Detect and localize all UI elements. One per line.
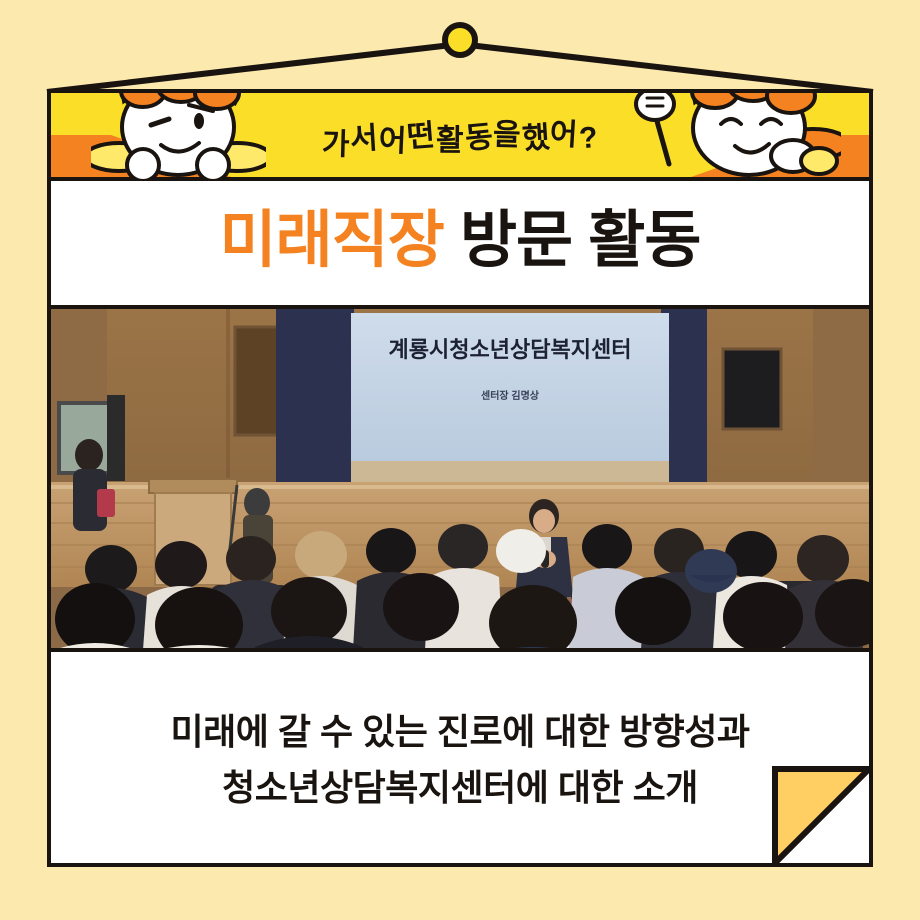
page-title: 미래직장 방문 활동: [220, 210, 701, 276]
poster-card: 가서 어떤 활동을 했어? 미래직장 방문 활동: [47, 89, 873, 867]
hanger-string-right: [460, 44, 873, 92]
photo-podium-top: [149, 479, 237, 493]
poster-canvas: 가서 어떤 활동을 했어? 미래직장 방문 활동: [0, 0, 920, 920]
banner-char: 어: [378, 115, 409, 160]
title-main-text: 방문 활동: [460, 206, 700, 275]
photo-curtain-left: [276, 309, 354, 482]
caption-line-2: 청소년상담복지센터에 대한 소개: [222, 760, 698, 816]
hanger-knob-icon: [445, 25, 475, 55]
photo-projection-screen: [351, 313, 669, 461]
photo-screen-subtitle: 센터장 김명상: [481, 389, 540, 402]
hanger-string-left: [47, 44, 460, 92]
banner-char: 가: [321, 119, 351, 164]
banner-char: ?: [578, 121, 600, 156]
photo-navy-cap-icon: [685, 549, 737, 593]
photo-wall-seam-1: [226, 309, 230, 482]
hanger-decoration: [0, 0, 920, 100]
photo-red-folder: [97, 489, 115, 517]
banner-char: 떤: [406, 110, 438, 156]
banner-char: 서: [349, 113, 380, 159]
banner-char: 동: [463, 111, 496, 158]
banner-char: 을: [493, 109, 523, 154]
banner-char: 어: [549, 108, 580, 154]
photo-window-right: [723, 349, 781, 429]
banner: 가서 어떤 활동을 했어?: [51, 93, 869, 181]
caption-block: 미래에 갈 수 있는 진로에 대한 방향성과 청소년상담복지센터에 대한 소개: [51, 652, 869, 867]
title-main-text: [444, 206, 460, 275]
photo-monitor-stand: [107, 395, 125, 481]
photo-illustration: 계룡시청소년상담복지센터 센터장 김명상: [51, 309, 869, 648]
title-strip: 미래직장 방문 활동: [51, 181, 869, 309]
photo-screen-title: 계룡시청소년상담복지센터: [389, 337, 632, 362]
title-accent-text: 미래직장: [220, 206, 444, 275]
banner-char: 했: [521, 112, 552, 158]
photo-bystander-head: [244, 488, 270, 518]
banner-char: 활: [436, 115, 465, 159]
caption-line-1: 미래에 갈 수 있는 진로에 대한 방향성과: [171, 704, 750, 760]
photo-white-cap-icon: [496, 529, 546, 573]
photo-speaker-face: [533, 509, 555, 533]
lecture-hall-photo: 계룡시청소년상담복지센터 센터장 김명상: [51, 309, 869, 652]
